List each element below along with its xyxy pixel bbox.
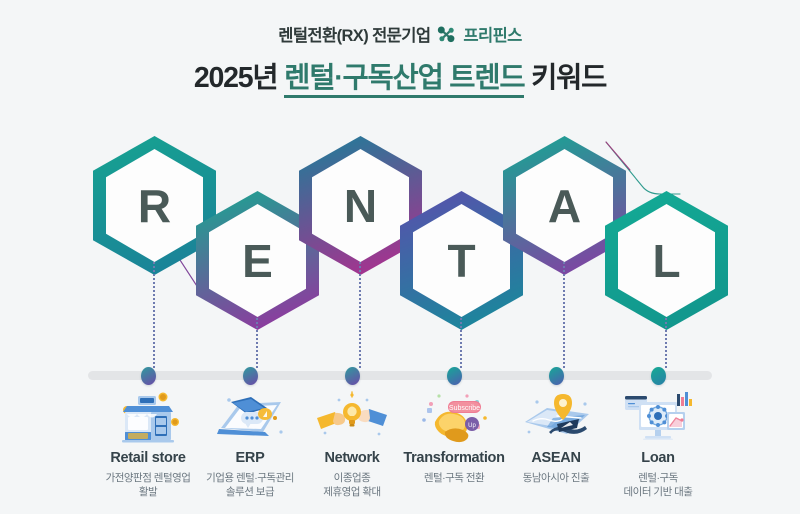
header: 렌털전환(RX) 전문기업 프리핀스 2025년 렌털·구독산업 트렌드 키워드 [0, 0, 800, 96]
item-icon-container [583, 386, 733, 444]
hexagon-face: A [516, 149, 613, 262]
hexagon-letter: N [344, 183, 377, 229]
hexagon-letter: R [138, 183, 171, 229]
hexagon-l[interactable]: L [605, 191, 728, 330]
title-suffix: 키워드 [524, 62, 606, 94]
item-title: Loan [583, 450, 733, 466]
hexagon-letter: E [242, 238, 273, 284]
hexagon-face: T [413, 204, 510, 317]
item-description: 렌털·구독 데이터 기반 대출 [583, 471, 733, 500]
timeline-dot[interactable] [447, 367, 462, 385]
hexagon-keyword-row: RENTAL [0, 118, 800, 338]
svg-text:Up: Up [468, 423, 476, 429]
keyword-item-loan[interactable]: Loan렌털·구독 데이터 기반 대출 [583, 386, 733, 500]
dotted-connector-t [460, 318, 462, 368]
brand-subtitle-row: 렌털전환(RX) 전문기업 프리핀스 [0, 22, 800, 46]
title-prefix: 2025년 [194, 62, 284, 94]
hexagon-letter: L [652, 238, 680, 284]
page-title: 2025년 렌털·구독산업 트렌드 키워드 [0, 55, 800, 96]
timeline-dot[interactable] [141, 367, 156, 385]
hexagon-face: N [312, 149, 409, 262]
hexagon-face: R [106, 149, 203, 262]
hexagon-border: L [605, 191, 728, 330]
title-highlight: 렌털·구독산업 트렌드 [284, 62, 524, 98]
hexagon-face: L [618, 204, 715, 317]
timeline-dot[interactable] [345, 367, 360, 385]
dotted-connector-l [665, 318, 667, 368]
timeline-dot[interactable] [243, 367, 258, 385]
hexagon-letter: T [447, 238, 475, 284]
dotted-connector-n [359, 262, 361, 368]
dotted-connector-e [256, 318, 258, 368]
timeline-dot[interactable] [549, 367, 564, 385]
hexagon-letter: A [548, 183, 581, 229]
dotted-connector-a [563, 262, 565, 368]
four-dot-cluster-logo-icon [437, 26, 456, 43]
hexagon-face: E [209, 204, 306, 317]
timeline-dot[interactable] [651, 367, 666, 385]
brand-name: 프리핀스 [463, 22, 521, 46]
subtitle-prefix: 렌털전환(RX) 전문기업 [278, 22, 430, 46]
loan-monitor-data-icon [619, 388, 697, 444]
svg-text:Subscribe: Subscribe [449, 405, 480, 412]
dotted-connector-r [153, 262, 155, 368]
timeline-bar [88, 371, 712, 380]
